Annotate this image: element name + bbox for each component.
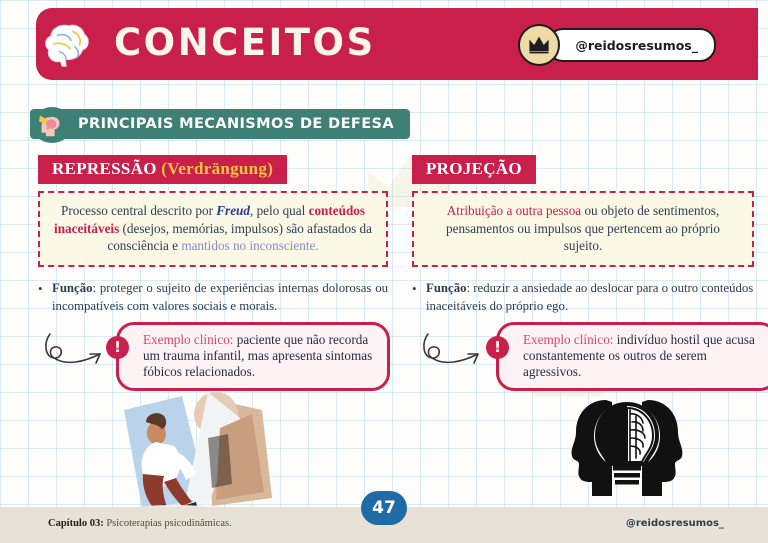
page-number-badge: 47 — [361, 491, 407, 525]
bullet-content: Função: proteger o sujeito de experiênci… — [52, 279, 388, 315]
def-freud: Freud — [216, 203, 250, 218]
example-bubble-repressao: ! Exemplo clínico: paciente que não reco… — [116, 322, 390, 391]
bullet-content: Função: reduzir a ansiedade ao deslocar … — [426, 279, 754, 315]
tag-german-label: (Verdrängung) — [161, 159, 273, 178]
curly-arrow-icon — [42, 328, 114, 374]
crown-badge — [518, 24, 560, 66]
head-megaphone-icon — [32, 107, 72, 143]
footer-bar: Capítulo 03: Psicoterapias psicodinâmica… — [0, 507, 768, 543]
example-lead-label: Exemplo clínico: — [143, 332, 233, 347]
curly-arrow-icon — [420, 328, 492, 374]
page-title: CONCEITOS — [114, 21, 376, 64]
tag-main-label: REPRESSÃO — [52, 159, 157, 178]
section-banner: PRINCIPAIS MECANISMOS DE DEFESA — [30, 109, 410, 139]
column-tag-projecao: PROJEÇÃO — [412, 155, 536, 184]
exclamation-icon: ! — [106, 336, 129, 359]
def-highlight-crimson: Atribuição a outra pessoa — [447, 203, 581, 218]
example-bubble-projecao: ! Exemplo clínico: indivíduo hostil que … — [496, 322, 768, 391]
footer-handle: @reidosresumos_ — [626, 518, 724, 529]
column-projecao: PROJEÇÃO Atribuição a outra pessoa ou ob… — [412, 155, 754, 315]
crown-icon — [527, 34, 551, 56]
def-highlight-purple: mantidos no inconsciente. — [181, 238, 318, 253]
bullet-funcao-projecao: • Função: reduzir a ansiedade ao desloca… — [412, 279, 754, 315]
brand-handle[interactable]: @reidosresumos_ — [518, 26, 716, 64]
def-part-2: , pelo qual — [250, 203, 309, 218]
handle-label: @reidosresumos_ — [547, 28, 716, 62]
person-pushing-rock-illustration — [112, 388, 288, 513]
exclamation-icon: ! — [486, 336, 509, 359]
bullet-funcao-repressao: • Função: proteger o sujeito de experiên… — [38, 279, 388, 315]
bullet-text: : reduzir a ansiedade ao deslocar para o… — [426, 281, 753, 313]
header-banner: CONCEITOS @reidosresumos_ — [36, 8, 758, 80]
example-row-projecao: ! Exemplo clínico: indivíduo hostil que … — [420, 322, 768, 391]
bullet-dot: • — [412, 279, 426, 315]
example-row-repressao: ! Exemplo clínico: paciente que não reco… — [42, 322, 390, 391]
bullet-label: Função — [426, 281, 467, 295]
def-part-1: Processo central descrito por — [61, 203, 216, 218]
infographic-page: CONCEITOS @reidosresumos_ PRINCIPAIS MEC… — [0, 0, 768, 543]
column-tag-repressao: REPRESSÃO (Verdrängung) — [38, 155, 287, 184]
bullet-label: Função — [52, 281, 93, 295]
tag-main-label: PROJEÇÃO — [426, 159, 522, 178]
brain-icon — [40, 20, 98, 70]
definition-box-repressao: Processo central descrito por Freud, pel… — [38, 191, 388, 267]
footer-chapter-text: Psicoterapias psicodinâmicas. — [104, 518, 232, 529]
footer-chapter-label: Capítulo 03: — [48, 518, 104, 529]
definition-box-projecao: Atribuição a outra pessoa ou objeto de s… — [412, 191, 754, 267]
section-banner-label: PRINCIPAIS MECANISMOS DE DEFESA — [78, 116, 394, 132]
column-repressao: REPRESSÃO (Verdrängung) Processo central… — [38, 155, 388, 315]
bullet-dot: • — [38, 279, 52, 315]
footer-chapter: Capítulo 03: Psicoterapias psicodinâmica… — [48, 518, 232, 529]
two-heads-lightbulb-brain-illustration — [566, 396, 688, 500]
example-lead-label: Exemplo clínico: — [523, 332, 613, 347]
bullet-text: : proteger o sujeito de experiências int… — [52, 281, 388, 313]
